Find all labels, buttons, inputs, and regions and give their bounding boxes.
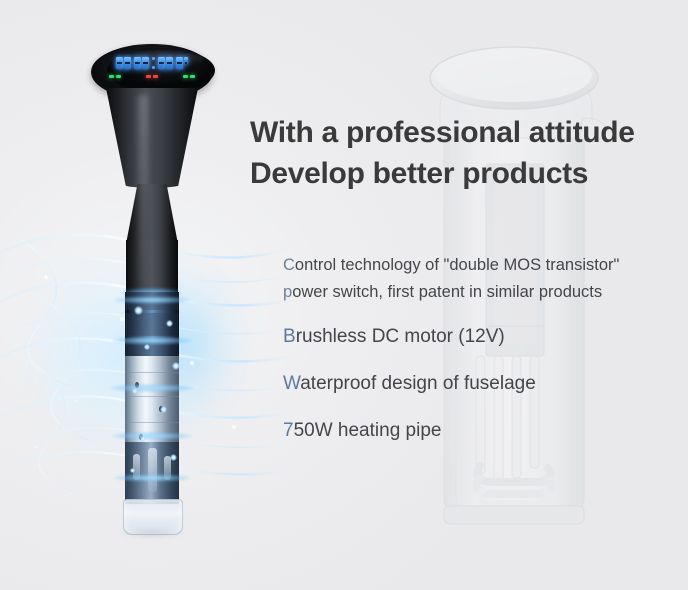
product-banner: With a professional attitude Develop bet… bbox=[0, 0, 688, 590]
device-body-upper bbox=[106, 88, 198, 188]
bubble-spark bbox=[144, 344, 150, 350]
display-segment bbox=[166, 57, 173, 69]
feature-item-motor: Brushless DC motor (12V) bbox=[283, 323, 683, 351]
display-colon-icon bbox=[152, 57, 155, 69]
bubble-spark bbox=[172, 362, 180, 370]
line-text: ower switch, first patent in similar pro… bbox=[292, 283, 602, 301]
skirt-line bbox=[125, 396, 179, 397]
bubble-spark bbox=[130, 468, 135, 473]
line-text: 50W heating pipe bbox=[294, 420, 442, 441]
skirt-line bbox=[125, 422, 179, 423]
flow-glow-ring bbox=[112, 432, 192, 440]
bubble-spark bbox=[132, 388, 138, 394]
bubble-spark bbox=[134, 306, 143, 315]
control-head-face bbox=[107, 48, 215, 93]
display-segment bbox=[134, 57, 141, 69]
lead-letter: 7 bbox=[283, 420, 294, 441]
feature-list: Control technology of "double MOS transi… bbox=[283, 252, 683, 464]
body-specular-highlight bbox=[138, 94, 148, 289]
display-digit-group-4 bbox=[176, 57, 188, 69]
bubble-spark bbox=[140, 436, 146, 442]
feature-item-heating-pipe: 750W heating pipe bbox=[283, 417, 683, 445]
led-center-icon bbox=[146, 75, 158, 78]
headline: With a professional attitude Develop bet… bbox=[250, 112, 688, 194]
display-segment bbox=[142, 57, 149, 69]
feature-paragraph-line-1: Control technology of "double MOS transi… bbox=[283, 252, 683, 279]
display-segment-small bbox=[184, 57, 188, 64]
led-left-icon bbox=[109, 75, 121, 78]
bubble-spark bbox=[166, 320, 173, 327]
feature-item-waterproof: Waterproof design of fuselage bbox=[283, 370, 683, 398]
bubble-spark bbox=[160, 406, 167, 413]
line-text: rushless DC motor (12V) bbox=[296, 326, 505, 347]
display-digit-group-1 bbox=[116, 57, 131, 69]
display-segment bbox=[124, 57, 131, 69]
display-segment bbox=[158, 57, 165, 69]
base-slot bbox=[148, 448, 157, 492]
display-segment bbox=[116, 57, 123, 69]
feature-paragraph: Control technology of "double MOS transi… bbox=[283, 252, 683, 306]
skirt-line bbox=[125, 372, 179, 373]
lead-letter: W bbox=[283, 373, 300, 394]
lead-letter: p bbox=[283, 283, 292, 301]
flow-glow-ring bbox=[114, 296, 190, 304]
digital-display bbox=[116, 57, 188, 69]
device-contact-shadow bbox=[118, 528, 186, 538]
flow-glow-ring bbox=[114, 474, 190, 482]
flow-glow-ring bbox=[112, 336, 192, 345]
product-device bbox=[82, 44, 222, 524]
headline-line-1: With a professional attitude bbox=[250, 112, 688, 153]
indicator-led-row bbox=[109, 75, 195, 78]
display-segment bbox=[176, 57, 183, 69]
device-base-cylinder bbox=[125, 442, 179, 504]
flow-glow-ring bbox=[110, 384, 194, 392]
bubble-spark bbox=[170, 454, 177, 461]
line-text: ontrol technology of "double MOS transis… bbox=[295, 256, 619, 274]
display-digit-group-3 bbox=[158, 57, 173, 69]
headline-line-2: Develop better products bbox=[250, 153, 688, 194]
led-right-icon bbox=[183, 75, 195, 78]
feature-paragraph-line-2: power switch, first patent in similar pr… bbox=[283, 279, 683, 306]
lead-letter: B bbox=[283, 326, 296, 347]
lead-letter: C bbox=[283, 256, 295, 274]
device-body-waist bbox=[126, 184, 178, 244]
line-text: aterproof design of fuselage bbox=[300, 373, 536, 394]
display-digit-group-2 bbox=[134, 57, 149, 69]
